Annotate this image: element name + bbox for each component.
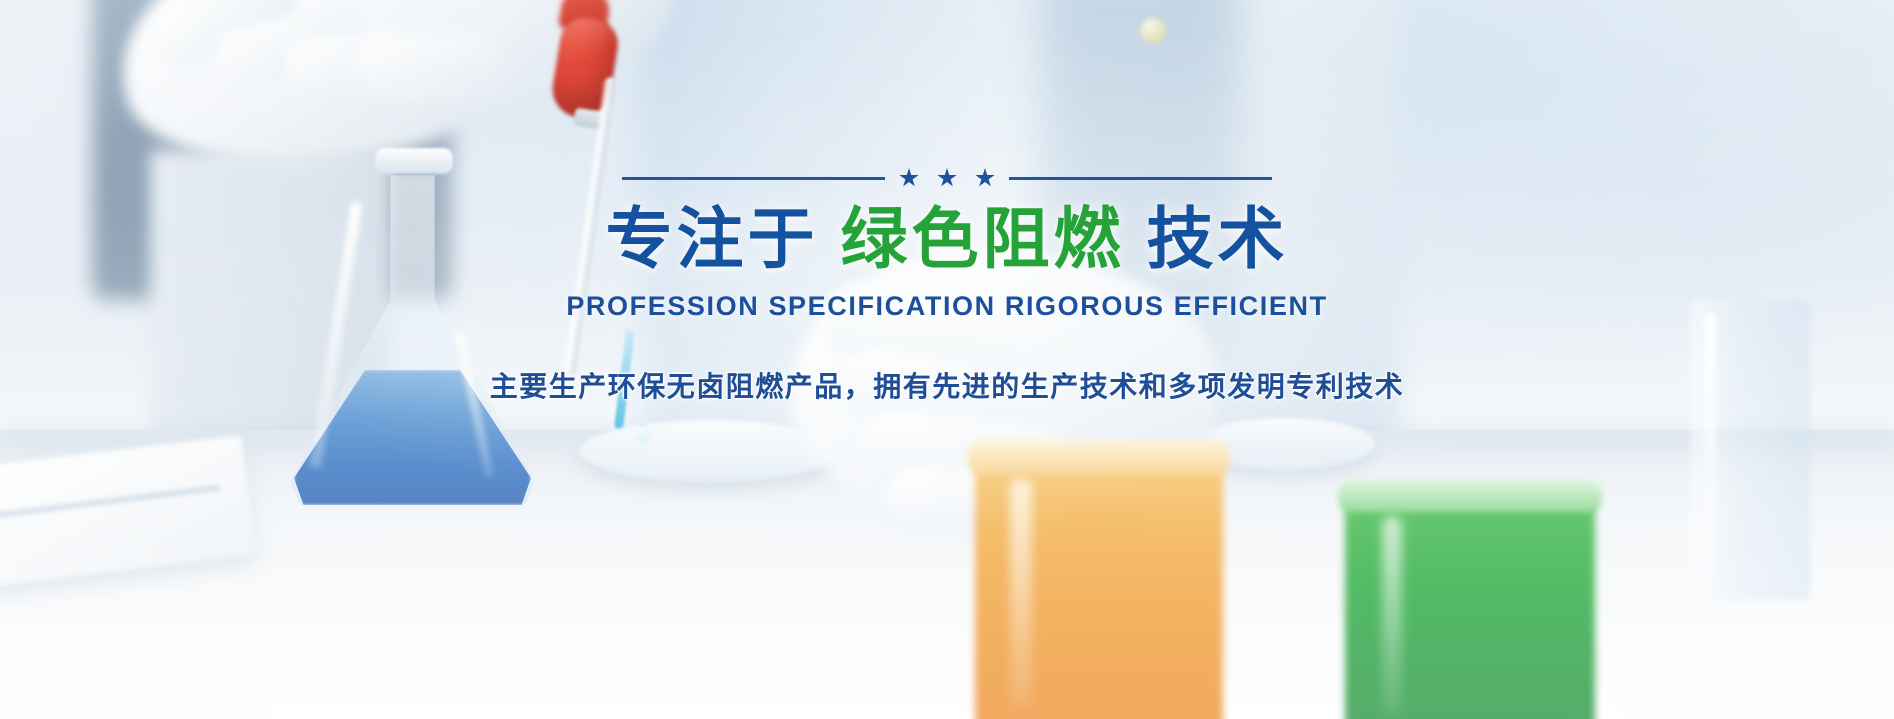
banner-headline: 专注于绿色阻燃技术 [606, 202, 1289, 277]
divider-rule-left [622, 177, 885, 180]
banner-subtitle-english: PROFESSION SPECIFICATION RIGOROUS EFFICI… [566, 291, 1327, 322]
star-icon [937, 168, 957, 188]
divider-stars [899, 168, 995, 188]
headline-part-3: 技术 [1147, 202, 1289, 277]
banner-subtitle-chinese: 主要生产环保无卤阻燃产品，拥有先进的生产技术和多项发明专利技术 [490, 365, 1405, 405]
divider-rule-right [1009, 177, 1272, 180]
star-icon [899, 168, 919, 188]
banner-content: 专注于绿色阻燃技术 PROFESSION SPECIFICATION RIGOR… [0, 0, 1894, 719]
headline-part-2: 绿色阻燃 [841, 202, 1125, 277]
star-icon [975, 168, 995, 188]
headline-part-1: 专注于 [606, 202, 819, 277]
divider [622, 168, 1272, 188]
hero-banner: 专注于绿色阻燃技术 PROFESSION SPECIFICATION RIGOR… [0, 0, 1894, 719]
